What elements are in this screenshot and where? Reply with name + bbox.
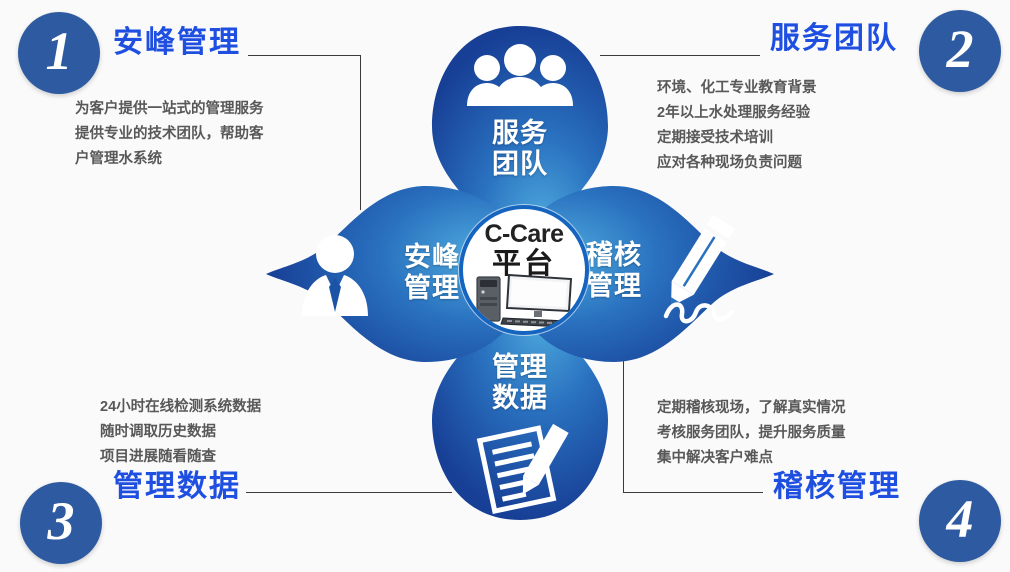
pencil-signature-icon	[658, 212, 754, 330]
businessman-icon	[298, 232, 372, 316]
quadrant-2-title: 服务团队	[770, 24, 898, 54]
connector-line-q2-horizontal	[600, 55, 760, 56]
quadrant-1-line-3: 户管理水系统	[75, 147, 264, 172]
quadrant-4-body: 定期稽核现场，了解真实情况 考核服务团队，提升服务质量 集中解决客户难点	[657, 396, 846, 471]
badge-number-2-label: 2	[947, 22, 974, 76]
quadrant-2-line-4: 应对各种现场负责问题	[657, 151, 817, 176]
connector-line-q4-horizontal	[623, 492, 763, 493]
center-hub-ccare-platform[interactable]: C-Care 平台	[459, 205, 589, 335]
badge-number-1: 1	[18, 12, 100, 94]
quadrant-4-title: 稽核管理	[773, 472, 901, 502]
three-people-group-icon	[465, 46, 575, 108]
quadrant-3-line-1: 24小时在线检测系统数据	[100, 395, 261, 420]
connector-line-q1-horizontal	[248, 55, 361, 56]
quadrant-3-line-3: 项目进展随看随查	[100, 445, 261, 470]
quadrant-1-line-1: 为客户提供一站式的管理服务	[75, 97, 264, 122]
quadrant-1-title: 安峰管理	[113, 28, 241, 58]
badge-number-2: 2	[919, 10, 1001, 92]
quadrant-2-line-2: 2年以上水处理服务经验	[657, 101, 817, 126]
petal-bottom-label-line2: 数据	[432, 383, 608, 414]
quadrant-4-line-1: 定期稽核现场，了解真实情况	[657, 396, 846, 421]
quadrant-4-line-2: 考核服务团队，提升服务质量	[657, 421, 846, 446]
petal-top-label-line1: 服务	[432, 118, 608, 149]
badge-number-4: 4	[919, 480, 1001, 562]
quadrant-1-body: 为客户提供一站式的管理服务 提供专业的技术团队，帮助客 户管理水系统	[75, 97, 264, 172]
quadrant-3-line-2: 随时调取历史数据	[100, 420, 261, 445]
quadrant-1-line-2: 提供专业的技术团队，帮助客	[75, 122, 264, 147]
petal-top-label-line2: 团队	[432, 149, 608, 180]
badge-number-4-label: 4	[947, 492, 974, 546]
quadrant-2-line-3: 定期接受技术培训	[657, 126, 817, 151]
desktop-computer-icon	[471, 271, 577, 334]
quadrant-2-line-1: 环境、化工专业教育背景	[657, 76, 817, 101]
petal-top-label: 服务 团队	[432, 118, 608, 180]
quadrant-3-body: 24小时在线检测系统数据 随时调取历史数据 项目进展随看随查	[100, 395, 261, 470]
badge-number-3: 3	[20, 482, 102, 564]
badge-number-1-label: 1	[46, 24, 73, 78]
hub-title: C-Care	[485, 222, 564, 247]
quadrant-4-line-3: 集中解决客户难点	[657, 446, 846, 471]
document-pencil-icon	[476, 418, 572, 514]
connector-line-q3-horizontal	[246, 492, 452, 493]
quadrant-3-title: 管理数据	[113, 472, 241, 502]
infographic-canvas: 服务 团队 管理 数据	[0, 0, 1010, 572]
badge-number-3-label: 3	[48, 494, 75, 548]
quadrant-2-body: 环境、化工专业教育背景 2年以上水处理服务经验 定期接受技术培训 应对各种现场负…	[657, 76, 817, 176]
